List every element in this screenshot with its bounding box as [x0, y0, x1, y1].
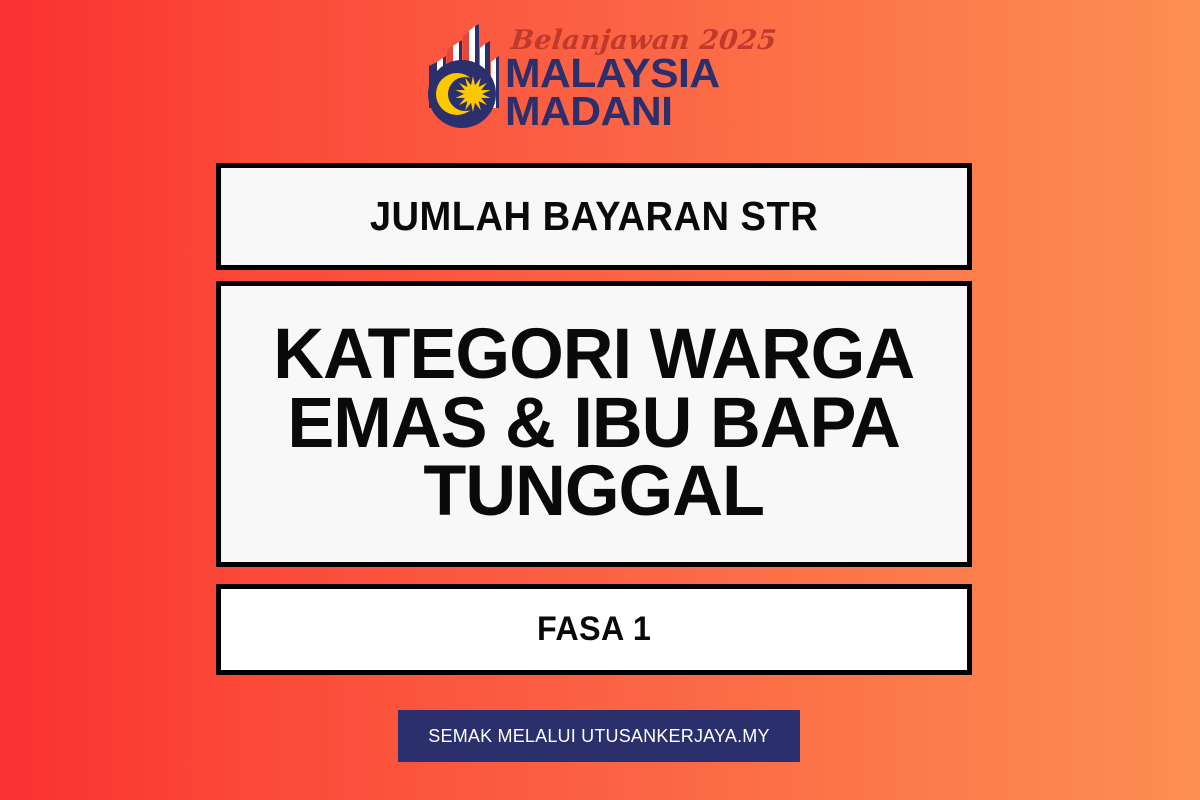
category-text-block: KATEGORI WARGA EMAS & IBU BAPA TUNGGAL: [266, 321, 923, 528]
panel-category: KATEGORI WARGA EMAS & IBU BAPA TUNGGAL: [216, 281, 972, 567]
panel-phase: FASA 1: [216, 584, 972, 675]
check-via-website-banner[interactable]: SEMAK MELALUI UTUSANKERJAYA.MY: [398, 710, 800, 762]
logo-wordmark: Belanjawan 2025 MALAYSIA MADANI: [505, 25, 777, 130]
malaysia-madani-emblem-icon: [423, 22, 501, 134]
payment-heading-label: JUMLAH BAYARAN STR: [370, 193, 818, 240]
phase-label: FASA 1: [537, 610, 651, 649]
poster-panel-stack: JUMLAH BAYARAN STR KATEGORI WARGA EMAS &…: [216, 163, 972, 675]
panel-payment-heading: JUMLAH BAYARAN STR: [216, 163, 972, 270]
logo-inner-group: Belanjawan 2025 MALAYSIA MADANI: [423, 22, 777, 134]
category-line-2: EMAS & IBU BAPA: [274, 390, 915, 459]
malaysia-madani-logo-lockup: Belanjawan 2025 MALAYSIA MADANI: [0, 22, 1200, 140]
category-line-3: TUNGGAL: [274, 458, 915, 527]
brand-line-madani: MADANI: [505, 93, 787, 131]
check-via-website-label: SEMAK MELALUI UTUSANKERJAYA.MY: [428, 726, 769, 747]
category-line-1: KATEGORI WARGA: [274, 321, 915, 390]
